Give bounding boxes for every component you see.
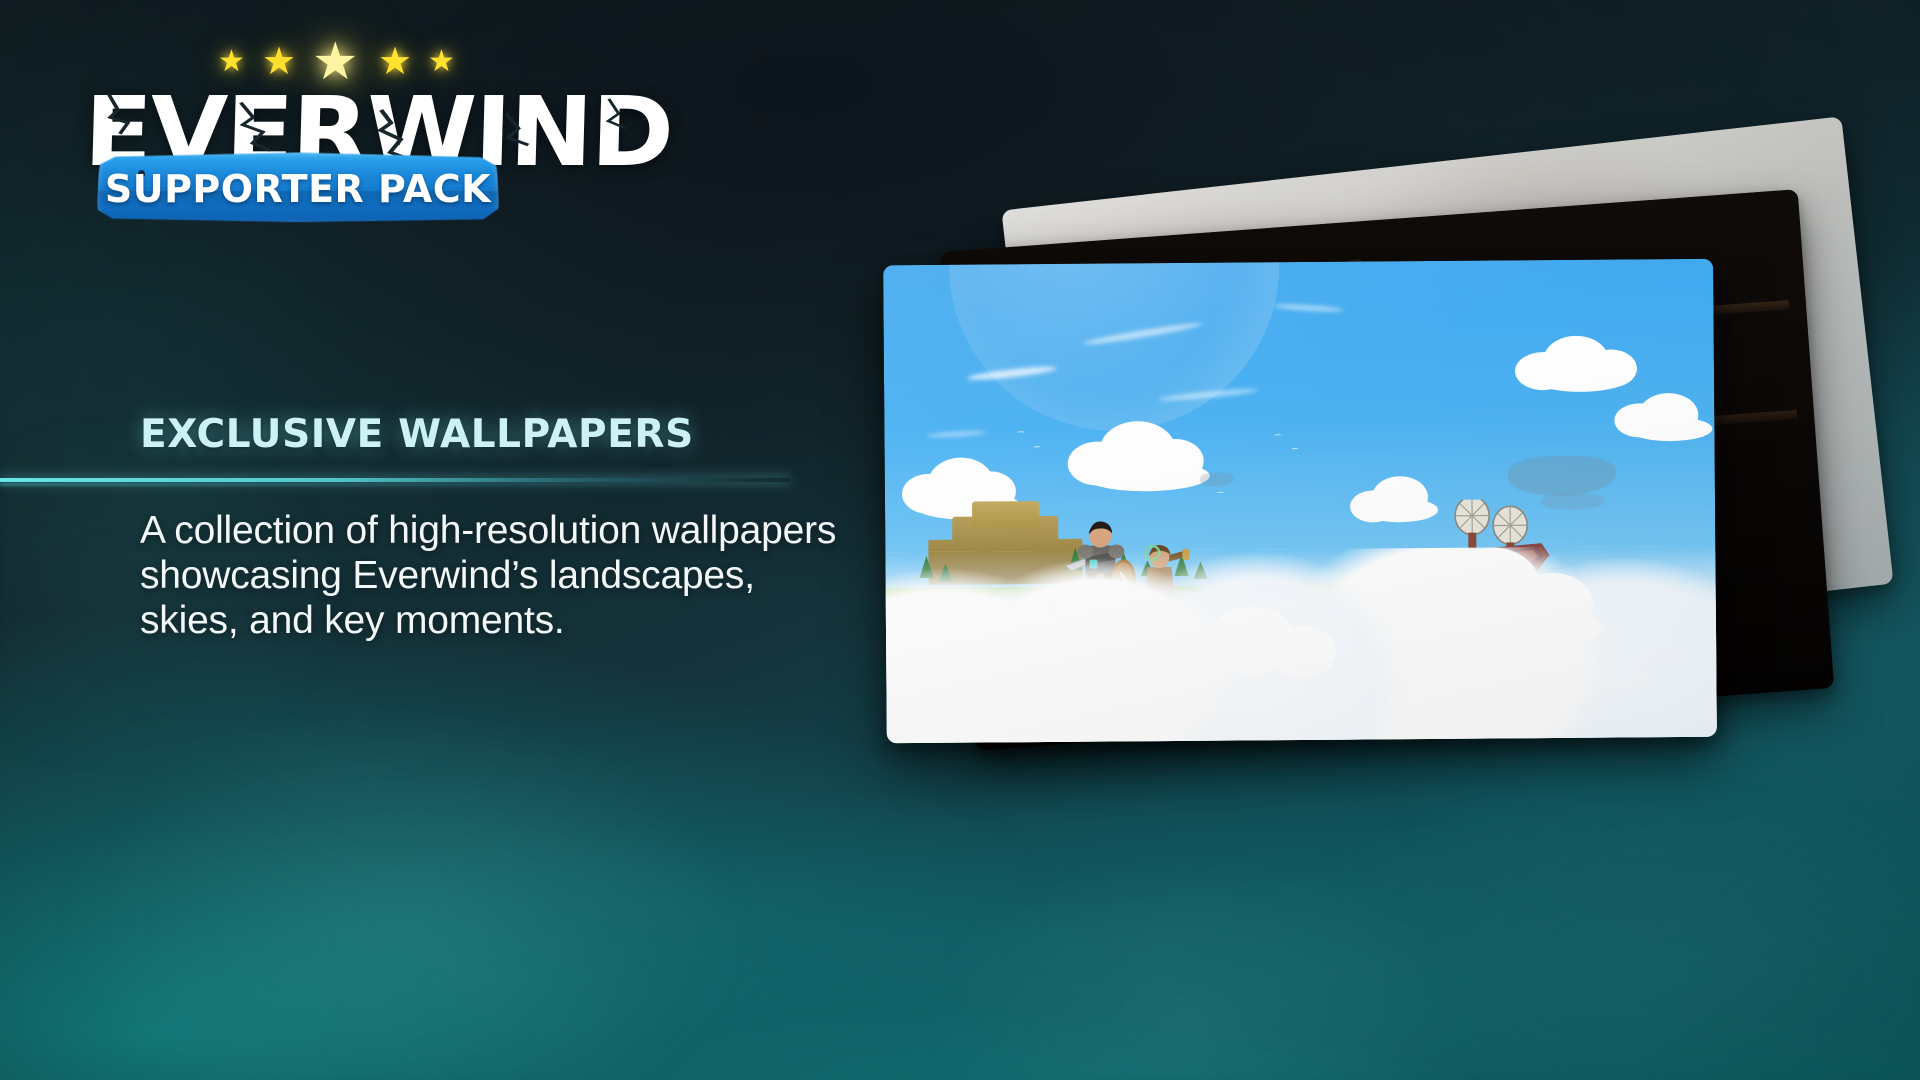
feature-title: EXCLUSIVE WALLPAPERS (140, 412, 900, 457)
divider-shadow-line (0, 483, 690, 486)
section-divider (0, 474, 980, 488)
supporter-pack-ribbon: SUPPORTER PACK (98, 152, 498, 222)
star-icon: ★ (218, 47, 245, 77)
star-icon: ★ (428, 47, 455, 77)
divider-glow-line (0, 478, 790, 482)
ribbon-label: SUPPORTER PACK (98, 152, 498, 222)
bird-icon (1034, 446, 1041, 449)
everwind-logo: ★ ★ ★ ★ ★ EVERWIND SUPPORTER PACK (80, 34, 600, 222)
wallpaper-card-stack (885, 170, 1845, 870)
left-content-panel: ★ ★ ★ ★ ★ EVERWIND SUPPORTER PACK (0, 0, 960, 1080)
feature-description: A collection of high-resolution wallpape… (140, 508, 860, 644)
wallpaper-card-front[interactable] (883, 259, 1717, 744)
feature-section: EXCLUSIVE WALLPAPERS A collection of hig… (140, 412, 900, 457)
